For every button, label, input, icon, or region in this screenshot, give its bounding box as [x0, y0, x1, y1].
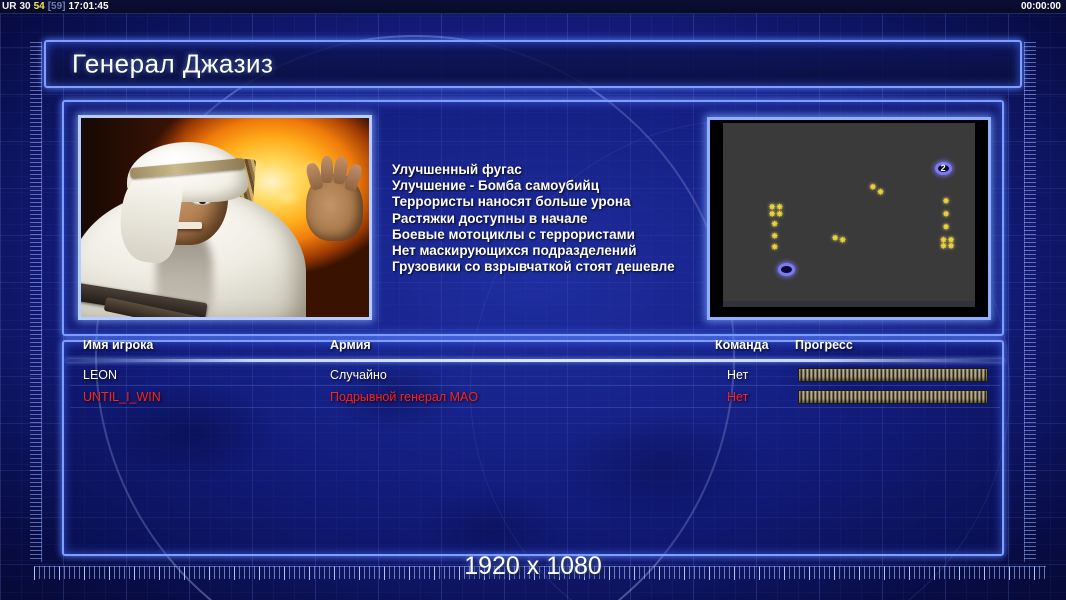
title-panel: Генерал Джазиз: [44, 40, 1022, 88]
cell-army: Подрывной генерал MAO: [330, 390, 478, 404]
cell-army: Случайно: [330, 368, 387, 382]
cell-player-name: LEON: [83, 368, 117, 382]
minimap-resource-marker: ✸: [771, 244, 779, 253]
top-status-bar: UR 30 54 [59] 17:01:45 00:00:00: [0, 0, 1066, 14]
right-ruler-strip: [1024, 42, 1036, 562]
raised-hand: [306, 174, 364, 242]
map-preview[interactable]: ✸✸✸✸✸✸✸✸✸✸✸✸✸✸✸✸✸✸2: [707, 117, 991, 320]
column-header-army: Армия: [330, 338, 371, 352]
column-header-progress: Прогресс: [795, 338, 853, 352]
resolution-caption: 1920 x 1080: [0, 552, 1066, 581]
status-value-3: [59]: [48, 0, 66, 14]
table-row[interactable]: UNTIL_I_WINПодрывной генерал MAOНет: [70, 386, 1000, 408]
finger: [321, 156, 334, 183]
minimap-resource-marker: ✸: [771, 233, 779, 242]
minimap-bottom-band: [723, 301, 975, 307]
status-readout: UR 30 54 [59] 17:01:45: [2, 0, 109, 14]
minimap-resource-marker: ✸: [942, 211, 950, 220]
game-lobby-screen: UR 30 54 [59] 17:01:45 00:00:00 Генерал …: [0, 0, 1066, 600]
minimap-resource-marker: ✸: [768, 211, 776, 220]
general-ability-list: Улучшенный фугас Улучшение - Бомба самоу…: [392, 162, 692, 275]
status-value-1: 30: [19, 0, 30, 14]
ability-line: Грузовики со взрывчаткой стоят дешевле: [392, 259, 692, 275]
minimap-resource-marker: ✸: [947, 243, 955, 252]
status-value-2: 54: [34, 0, 45, 14]
column-header-player-name: Имя игрока: [83, 338, 153, 352]
status-label: UR: [2, 0, 16, 14]
page-title: Генерал Джазиз: [72, 49, 273, 80]
minimap-resource-marker: ✸: [776, 211, 784, 220]
minimap-resource-marker: ✸: [942, 198, 950, 207]
match-timer: 00:00:00: [1021, 0, 1061, 14]
portrait-artwork: [81, 118, 369, 317]
status-clock: 17:01:45: [69, 0, 109, 14]
minimap-resource-marker: ✸: [877, 189, 885, 198]
players-table-body: LEONСлучайноНетUNTIL_I_WINПодрывной гене…: [70, 364, 1000, 408]
minimap-start-position[interactable]: 2: [935, 162, 952, 175]
ability-line: Нет маскирующихся подразделений: [392, 243, 692, 259]
ability-line: Улучшение - Бомба самоубийц: [392, 178, 692, 194]
minimap-resource-marker: ✸: [831, 235, 839, 244]
minimap-resource-marker: ✸: [869, 184, 877, 193]
cell-team: Нет: [727, 368, 748, 382]
general-portrait: [78, 115, 372, 320]
table-row[interactable]: LEONСлучайноНет: [70, 364, 1000, 386]
minimap-canvas[interactable]: ✸✸✸✸✸✸✸✸✸✸✸✸✸✸✸✸✸✸2: [723, 123, 975, 307]
column-header-team: Команда: [715, 338, 769, 352]
ability-line: Террористы наносят больше урона: [392, 194, 692, 210]
header-divider: [66, 359, 1004, 362]
minimap-resource-marker: ✸: [771, 221, 779, 230]
minimap-resource-marker: ✸: [839, 237, 847, 246]
players-table-header: Имя игрока Армия Команда Прогресс: [70, 338, 1000, 360]
minimap-start-position[interactable]: [778, 263, 795, 276]
progress-bar: [798, 368, 988, 382]
minimap-resource-marker: ✸: [942, 224, 950, 233]
row-separator: [70, 407, 1000, 408]
cell-team: Нет: [727, 390, 748, 404]
ability-line: Боевые мотоциклы с террористами: [392, 227, 692, 243]
cell-player-name: UNTIL_I_WIN: [83, 390, 161, 404]
left-ruler-strip: [30, 42, 42, 562]
ability-line: Растяжки доступны в начале: [392, 211, 692, 227]
progress-bar: [798, 390, 988, 404]
ability-line: Улучшенный фугас: [392, 162, 692, 178]
